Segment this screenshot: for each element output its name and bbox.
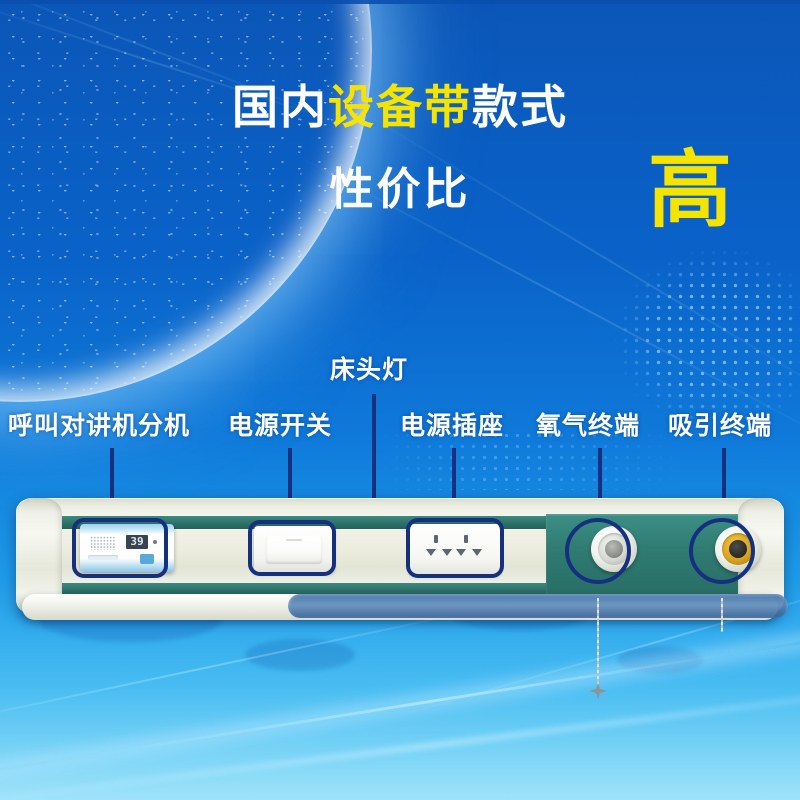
power-socket-plate (410, 524, 500, 574)
top-edge-band (0, 0, 800, 4)
promo-banner: 国内设备带款式 性价比 高 呼叫对讲机分机 床头灯 电源开关 电源插座 氧气终端… (0, 0, 800, 800)
suction-pull-cord[interactable] (721, 598, 723, 632)
suction-terminal-outlet[interactable] (715, 526, 761, 572)
headline-part-2: 设备带 (328, 81, 472, 133)
power-switch-plate (254, 526, 334, 572)
headline-part-3: 款式 (472, 81, 568, 133)
status-led-icon (153, 540, 157, 544)
speaker-grille-icon (90, 536, 116, 550)
headline: 国内设备带款式 (0, 84, 800, 130)
callout-label-nurse-call-intercom: 呼叫对讲机分机 (8, 414, 190, 439)
intercom-vent-slot (88, 555, 118, 560)
oxygen-terminal-outlet[interactable] (591, 526, 637, 572)
emphasis-character: 高 (648, 148, 732, 232)
callout-label-bed-lamp: 床头灯 (330, 358, 408, 383)
panel-teal-section (546, 514, 742, 598)
callout-label-oxygen-terminal: 氧气终端 (536, 414, 640, 439)
callout-label-power-switch: 电源开关 (228, 414, 332, 439)
panel-glass-overlay-strip (288, 594, 788, 618)
power-switch-rocker[interactable] (266, 535, 322, 563)
headline-part-1: 国内 (232, 81, 328, 133)
medical-bed-head-unit: 39 (16, 498, 784, 626)
oxygen-pull-cord[interactable] (597, 598, 599, 688)
intercom-display: 39 (126, 535, 148, 549)
intercom-call-button[interactable] (140, 554, 154, 564)
nurse-call-intercom-unit[interactable]: 39 (80, 524, 174, 572)
callout-label-power-socket: 电源插座 (400, 414, 504, 439)
callout-label-suction-terminal: 吸引终端 (668, 414, 772, 439)
socket-face[interactable] (424, 533, 486, 565)
